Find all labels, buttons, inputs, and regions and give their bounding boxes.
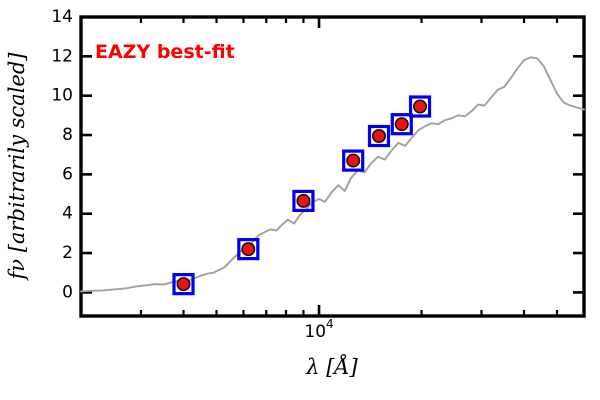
photometry-point: [239, 240, 258, 259]
photometry-circle-marker: [242, 243, 254, 255]
photometry-circle-marker: [177, 278, 189, 290]
photometry-point: [294, 191, 313, 210]
photometry-circle-marker: [297, 195, 309, 207]
y-tick-label: 10: [51, 86, 73, 106]
x-axis-label: λ [Å]: [305, 354, 358, 379]
y-axis-label: fν [arbitrarily scaled]: [5, 52, 29, 282]
y-tick-label: 2: [62, 243, 73, 263]
x-tick-label: 104: [304, 317, 333, 342]
y-tick-label: 4: [62, 204, 73, 224]
spectrum-curve: [81, 57, 584, 291]
photometry-point: [369, 127, 388, 146]
photometry-circle-marker: [396, 118, 408, 130]
y-tick-label: 8: [62, 125, 73, 145]
best-fit-annotation: EAZY best-fit: [95, 41, 235, 63]
spectrum-plot: 10402468101214 λ [Å] fν [arbitrarily sca…: [0, 0, 600, 400]
figure-container: 10402468101214 λ [Å] fν [arbitrarily sca…: [0, 0, 600, 400]
photometry-circle-marker: [373, 130, 385, 142]
photometry-point: [392, 115, 411, 134]
y-tick-label: 0: [62, 282, 73, 302]
photometry-circle-marker: [414, 100, 426, 112]
photometry-circle-marker: [347, 154, 359, 166]
photometry-point: [344, 151, 363, 170]
y-tick-label: 6: [62, 164, 73, 184]
photometry-point: [174, 275, 193, 294]
spectrum-line: [81, 57, 584, 291]
photometry-point: [411, 97, 430, 116]
photometry-points: [174, 97, 430, 294]
y-tick-label: 12: [51, 46, 73, 66]
y-tick-label: 14: [51, 7, 73, 27]
